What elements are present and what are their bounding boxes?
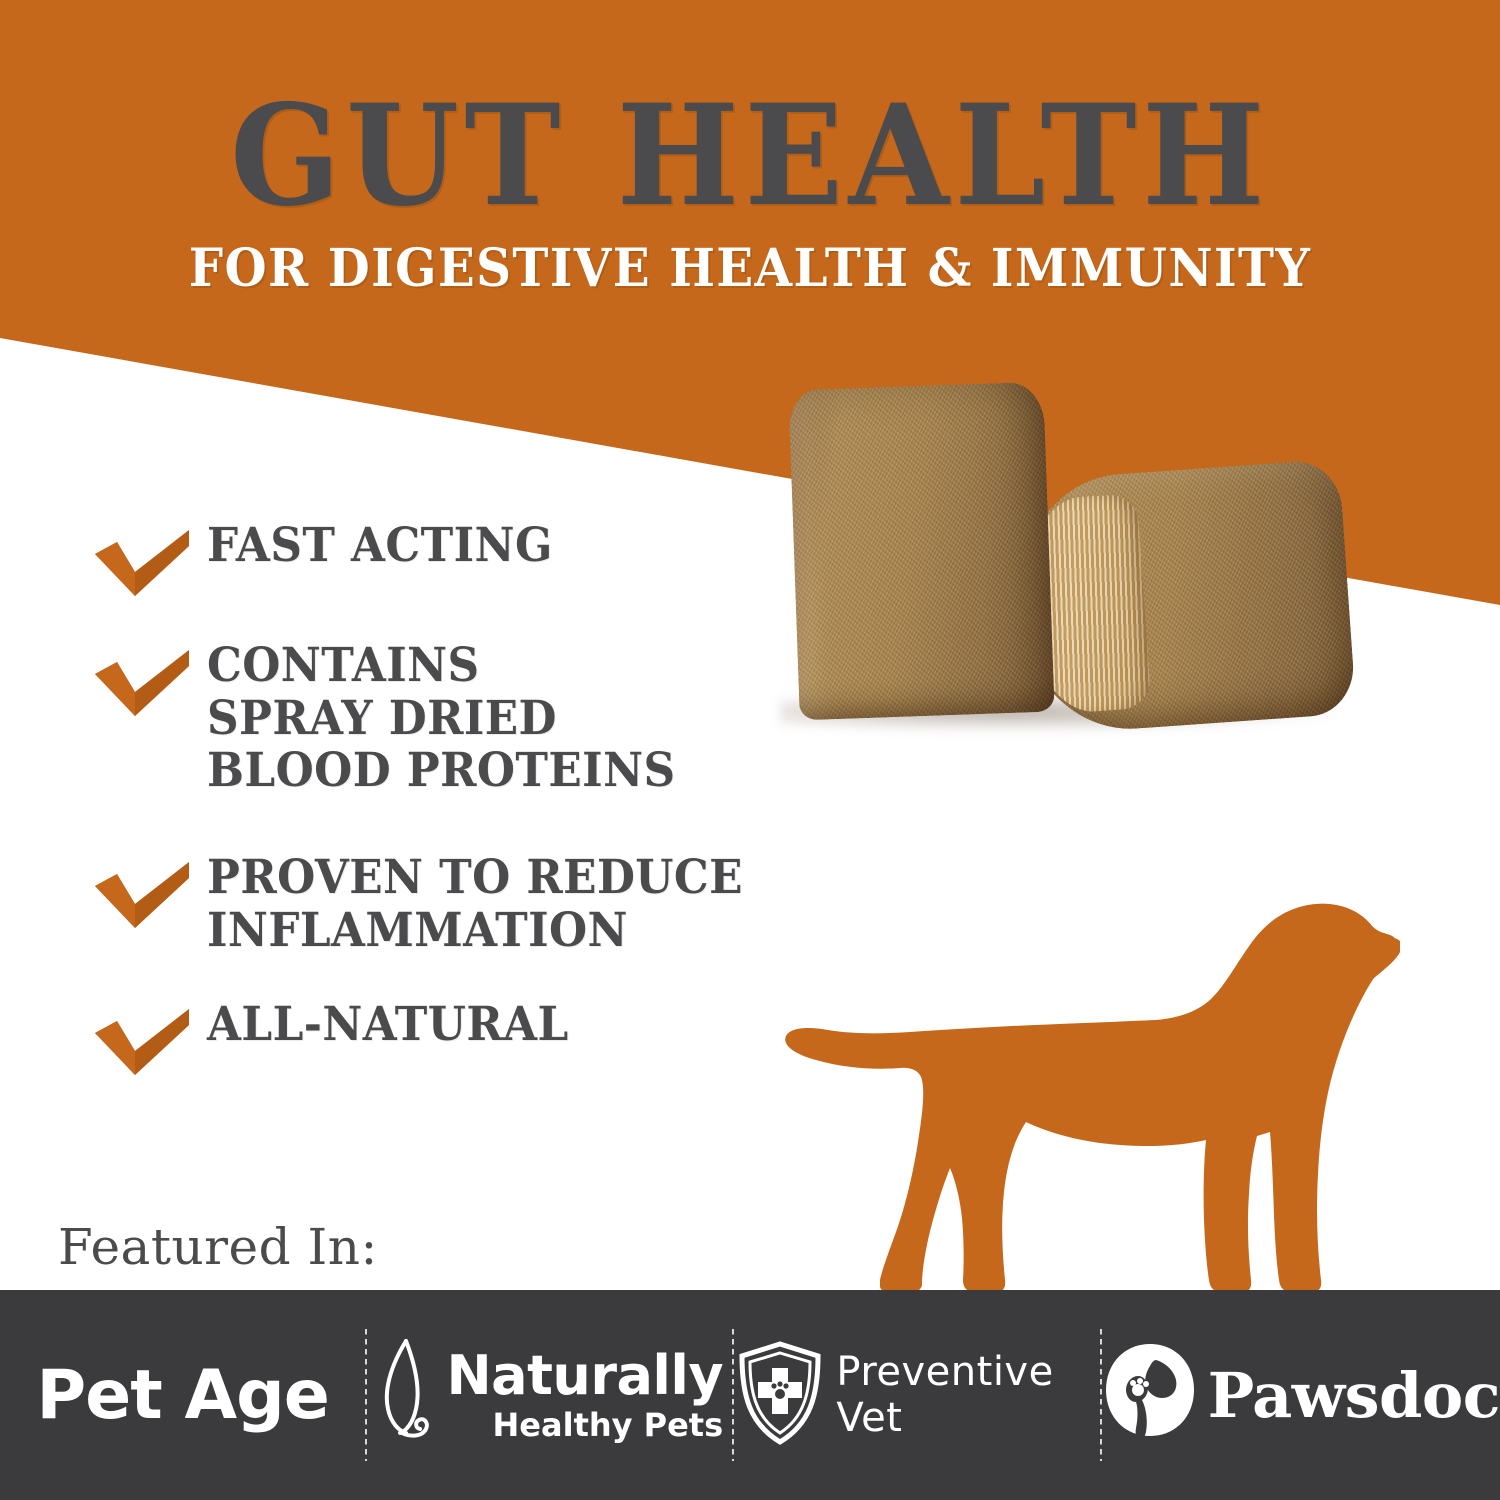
gut-health-infographic: GUT HEALTH FOR DIGESTIVE HEALTH & IMMUNI… [0, 0, 1500, 1500]
list-item-label: ALL-NATURAL [207, 999, 569, 1052]
list-item: PROVEN TO REDUCE INFLAMMATION [95, 852, 875, 957]
logo-pawsdoc-text: Pawsdoc [1208, 1359, 1500, 1432]
logo-preventive-vet[interactable]: Preventive Vet [734, 1290, 1099, 1500]
logo-pet-age-text: Pet Age [36, 1356, 329, 1435]
logo-pet-age[interactable]: Pet Age [0, 1290, 365, 1500]
logo-pawsdoc[interactable]: Pawsdoc [1102, 1290, 1500, 1500]
list-item-label: PROVEN TO REDUCE INFLAMMATION [207, 852, 743, 957]
check-icon [95, 999, 207, 1079]
dog-head-circle-icon [1102, 1338, 1198, 1453]
logo-nhp-line1: Naturally [446, 1349, 723, 1403]
logo-nhp-text: Naturally Healthy Pets [446, 1349, 723, 1441]
logo-nhp-line2: Healthy Pets [493, 1409, 724, 1441]
shield-paw-cross-icon [734, 1338, 826, 1453]
list-item: FAST ACTING [95, 520, 875, 600]
featured-in-heading: Featured In: [58, 1218, 378, 1276]
featured-logo-bar: Pet Age Naturally Healthy Pets [0, 1290, 1500, 1500]
list-item-label: FAST ACTING [207, 520, 553, 573]
check-icon [95, 520, 207, 600]
logo-preventive-vet-text: Preventive Vet [836, 1349, 1099, 1441]
dog-chew-reclining [1010, 459, 1357, 736]
check-icon [95, 640, 207, 720]
leaf-icon [376, 1333, 436, 1458]
list-item: CONTAINS SPRAY DRIED BLOOD PROTEINS [95, 640, 875, 798]
check-icon [95, 852, 207, 932]
benefits-list: FAST ACTING CONTAINS SPRAY DRIED BLOOD P… [95, 520, 875, 1113]
list-item-label: CONTAINS SPRAY DRIED BLOOD PROTEINS [207, 640, 676, 798]
list-item: ALL-NATURAL [95, 999, 875, 1079]
logo-naturally-healthy-pets[interactable]: Naturally Healthy Pets [367, 1290, 732, 1500]
